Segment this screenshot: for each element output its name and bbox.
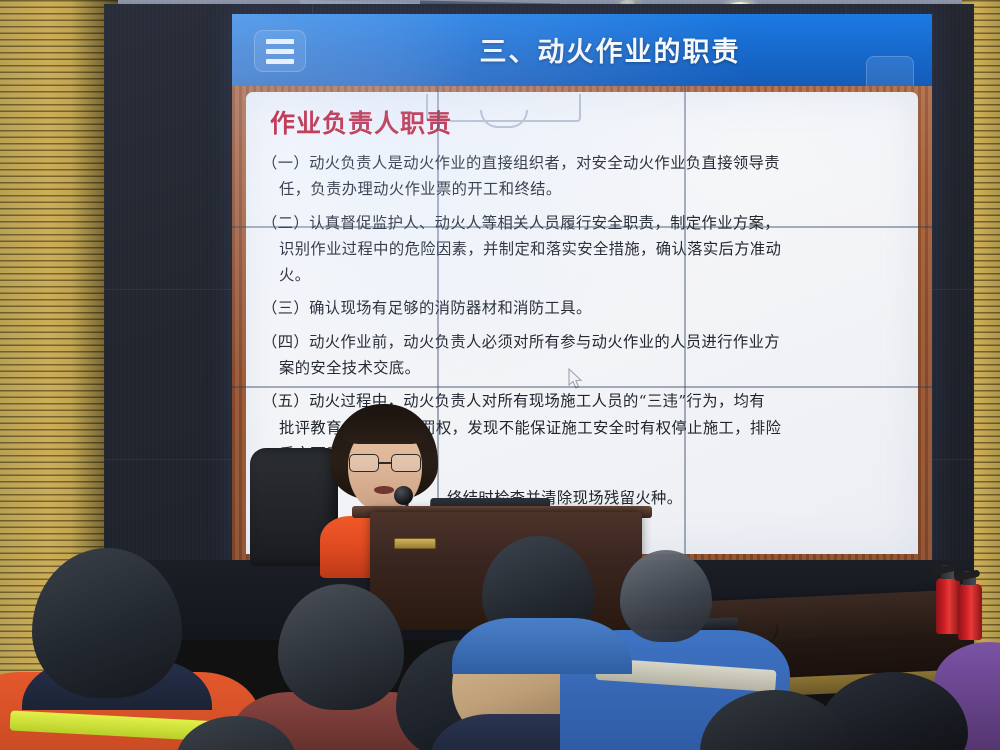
fire-extinguisher	[958, 584, 982, 640]
topbar-corner-button[interactable]	[866, 56, 914, 86]
glasses-lens	[391, 454, 421, 472]
glasses-lens	[349, 454, 379, 472]
microphone-icon	[394, 486, 413, 505]
audience-head	[620, 550, 712, 642]
hamburger-bar	[266, 39, 294, 44]
slide-title: 三、动火作业的职责	[232, 30, 932, 69]
slide-line: 识别作业过程中的危险因素，并制定和落实安全措施，确认落实后方准动	[262, 236, 908, 262]
slide-line: 案的安全技术交底。	[262, 355, 908, 381]
presenter-mouth	[374, 486, 394, 494]
slide-paragraph-2: （二）认真督促监护人、动火人等相关人员履行安全职责，制定作业方案， 识别作业过程…	[262, 210, 908, 289]
conference-room-scene: 三、动火作业的职责 作业负责人职责 （一）动火负责人是动火作业的直接组织者，对安…	[0, 0, 1000, 750]
slide-line: （四）动火作业前，动火负责人必须对所有参与动火作业的人员进行作业方	[262, 329, 908, 355]
slide-line: 任，负责办理动火作业票的开工和终结。	[262, 176, 908, 202]
slide-paragraph-4: （四）动火作业前，动火负责人必须对所有参与动火作业的人员进行作业方 案的安全技术…	[262, 329, 908, 382]
slide-topbar: 三、动火作业的职责	[232, 14, 932, 86]
hamburger-bar	[266, 59, 294, 64]
slide-heading: 作业负责人职责	[270, 104, 452, 140]
audience-shoulders	[452, 618, 632, 674]
slide-line: （一）动火负责人是动火作业的直接组织者，对安全动火作业负直接领导责	[262, 150, 908, 176]
slide-line: 火。	[262, 262, 908, 288]
slide-paragraph-1: （一）动火负责人是动火作业的直接组织者，对安全动火作业负直接领导责 任，负责办理…	[262, 150, 908, 203]
glasses-icon	[349, 454, 421, 472]
podium-nameplate	[394, 538, 436, 549]
slide-line: （二）认真督促监护人、动火人等相关人员履行安全职责，制定作业方案，	[262, 210, 908, 236]
fire-extinguisher	[936, 578, 960, 634]
hamburger-menu-icon[interactable]	[254, 30, 306, 72]
hamburger-bar	[266, 49, 294, 54]
slide-paragraph-3: （三）确认现场有足够的消防器材和消防工具。	[262, 295, 908, 321]
slide-line: （三）确认现场有足够的消防器材和消防工具。	[262, 295, 908, 321]
glasses-bridge	[379, 462, 391, 464]
